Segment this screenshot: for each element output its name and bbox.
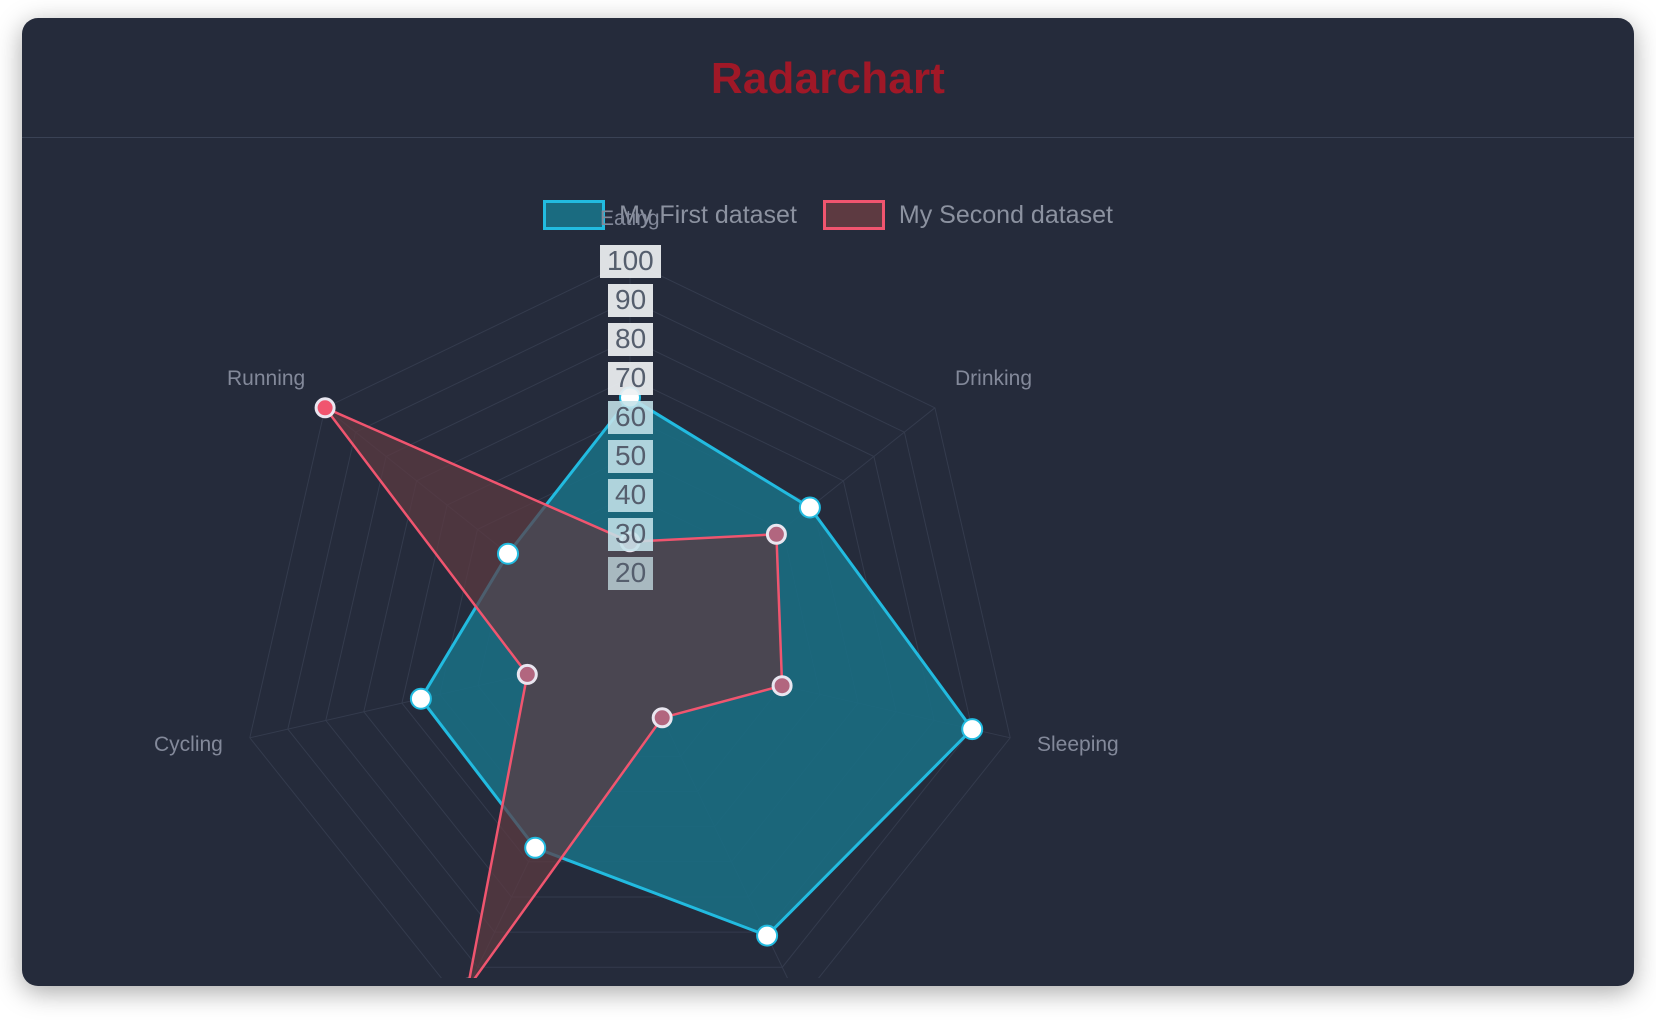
radar-data-point[interactable] (316, 399, 334, 417)
legend-swatch-second-dataset (823, 200, 885, 230)
legend-item-first-dataset[interactable]: My First dataset (543, 200, 797, 230)
chart-legend: My First dataset My Second dataset (22, 200, 1634, 230)
radar-data-point[interactable] (620, 388, 640, 408)
legend-label-second-dataset: My Second dataset (899, 201, 1113, 230)
legend-swatch-first-dataset (543, 200, 605, 230)
radar-data-point[interactable] (621, 533, 639, 551)
page-title: Radarchart (22, 54, 1634, 104)
radar-data-point[interactable] (498, 544, 518, 564)
radar-data-point[interactable] (518, 665, 536, 683)
card-header: Radarchart (22, 18, 1634, 138)
radar-data-point[interactable] (773, 677, 791, 695)
radar-series (325, 398, 972, 979)
chart-card: Radarchart My First dataset My Second da… (22, 18, 1634, 986)
radar-data-point[interactable] (653, 709, 671, 727)
radar-data-point[interactable] (800, 498, 820, 518)
radar-chart-svg (22, 238, 1634, 978)
page-root: Radarchart My First dataset My Second da… (0, 0, 1656, 1020)
radar-data-point[interactable] (525, 838, 545, 858)
radar-data-point[interactable] (411, 689, 431, 709)
radar-data-point[interactable] (767, 525, 785, 543)
legend-label-first-dataset: My First dataset (619, 201, 797, 230)
legend-item-second-dataset[interactable]: My Second dataset (823, 200, 1113, 230)
radar-chart-area[interactable]: EatingDrinkingSleepingDesigningCodingCyc… (22, 238, 1634, 978)
radar-data-point[interactable] (757, 926, 777, 946)
radar-data-point[interactable] (962, 719, 982, 739)
